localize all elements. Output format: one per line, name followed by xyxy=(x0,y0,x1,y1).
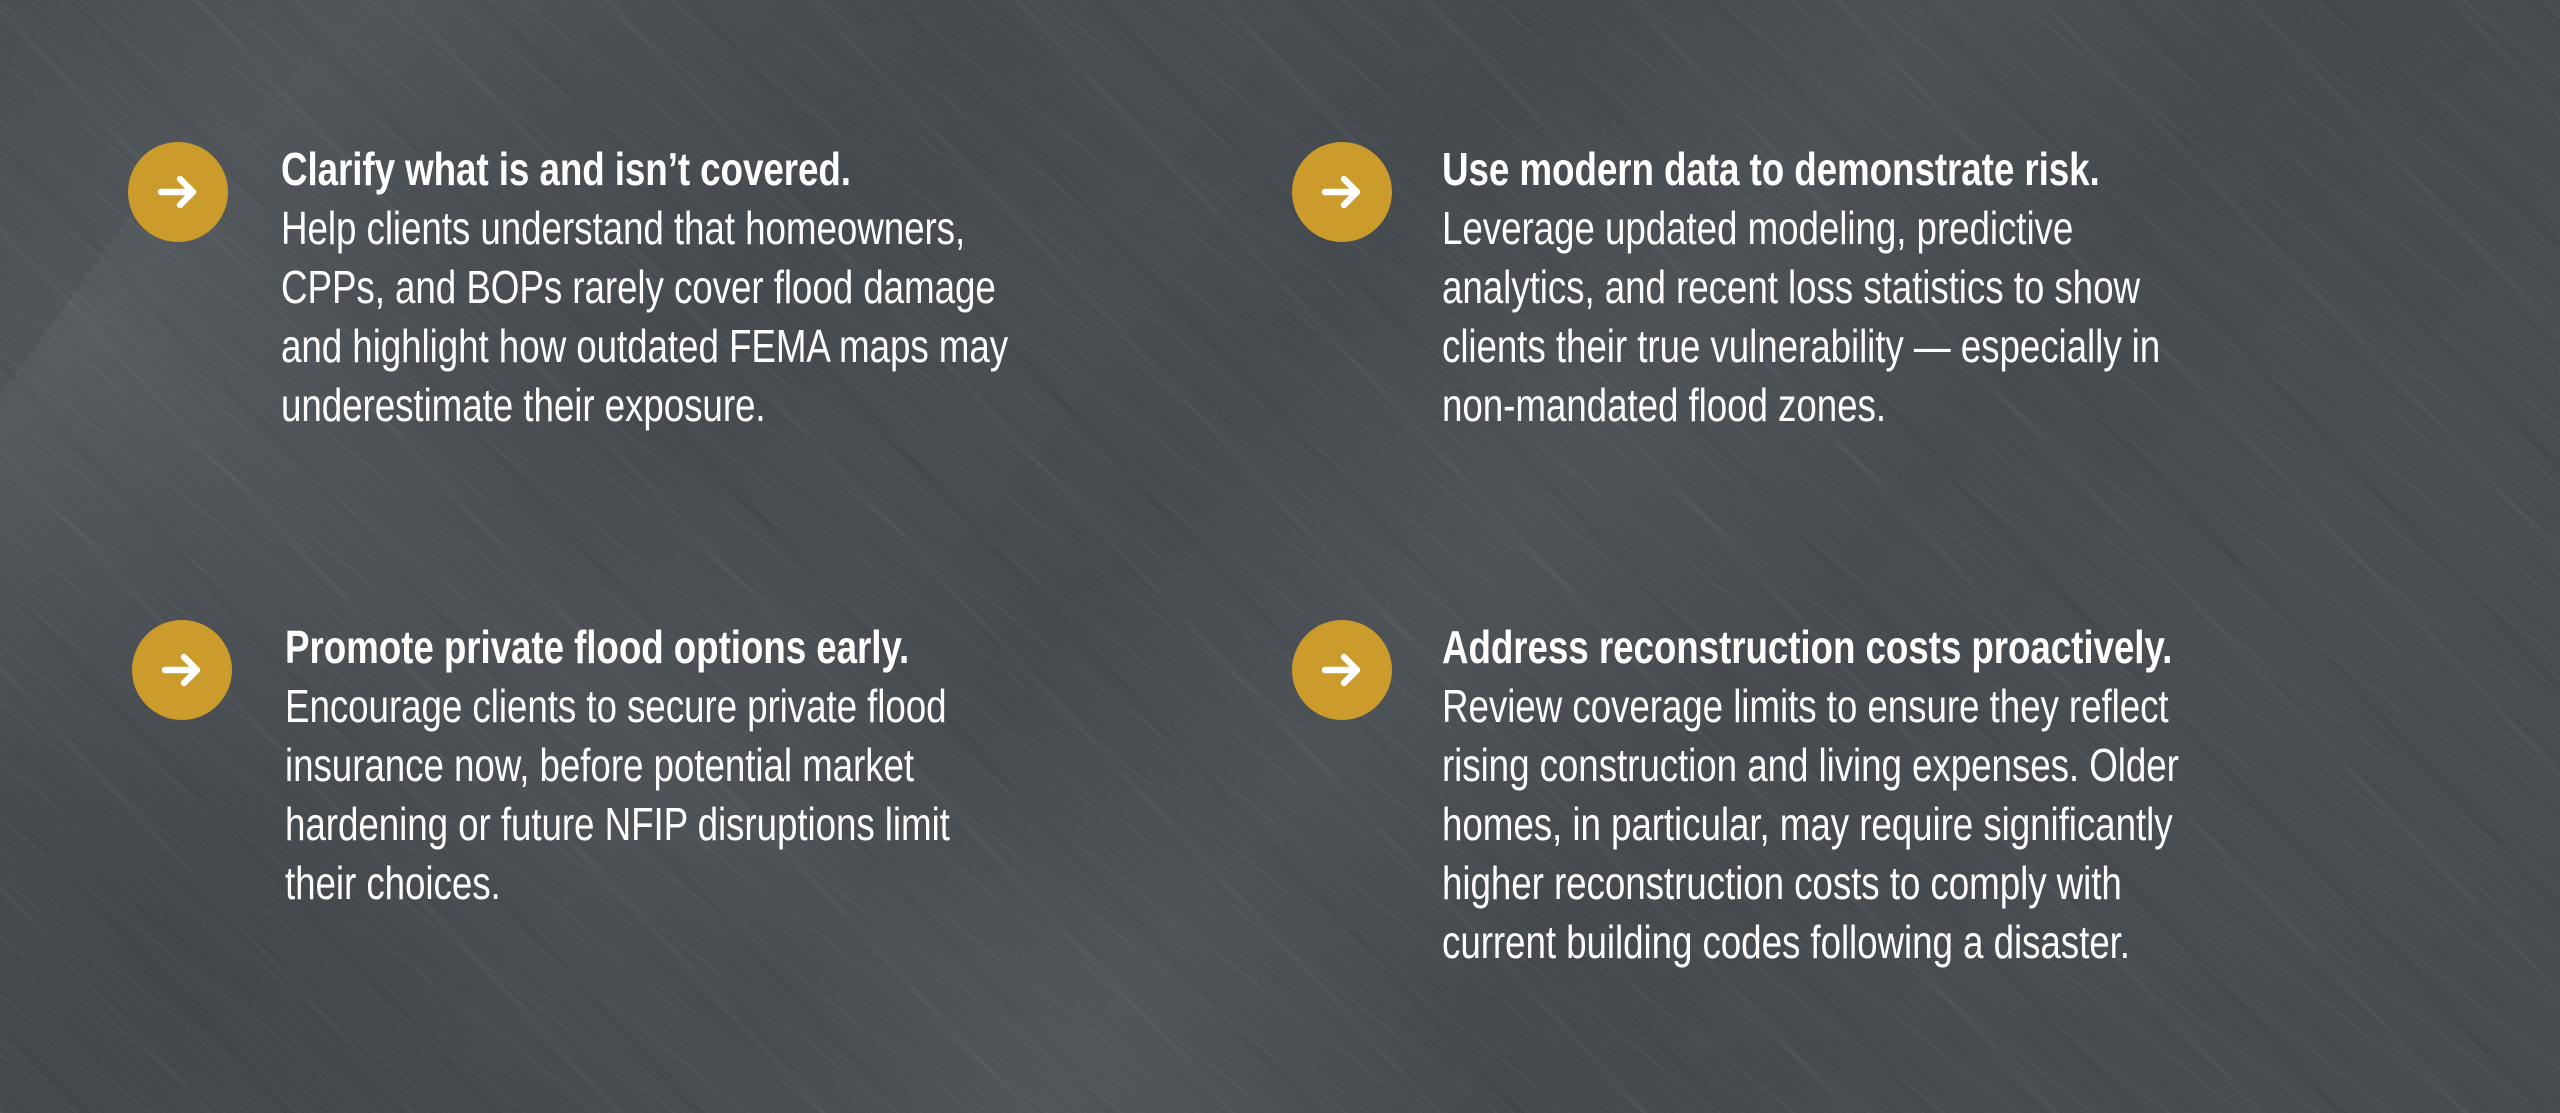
tip-card-promote-private-flood: Promote private flood options early. Enc… xyxy=(132,618,1217,913)
tip-card-reconstruction-costs: Address reconstruction costs proactively… xyxy=(1292,618,2432,972)
arrow-right-icon xyxy=(1292,620,1392,720)
tip-card-body: Address reconstruction costs proactively… xyxy=(1392,618,2432,972)
tip-card-body: Clarify what is and isn’t covered. Help … xyxy=(228,140,1213,435)
arrow-right-icon xyxy=(132,620,232,720)
tip-card-text: Leverage updated modeling, predictive an… xyxy=(1442,199,2218,435)
tip-card-heading: Use modern data to demonstrate risk. xyxy=(1442,140,2218,199)
infographic-canvas: Clarify what is and isn’t covered. Help … xyxy=(0,0,2560,1113)
tip-card-text: Review coverage limits to ensure they re… xyxy=(1442,677,2234,972)
tip-card-body: Use modern data to demonstrate risk. Lev… xyxy=(1392,140,2412,435)
tip-card-heading: Address reconstruction costs proactively… xyxy=(1442,618,2234,677)
arrow-right-icon xyxy=(128,142,228,242)
tip-card-clarify-coverage: Clarify what is and isn’t covered. Help … xyxy=(128,140,1213,435)
arrow-right-icon xyxy=(1292,142,1392,242)
tip-card-text: Help clients understand that homeowners,… xyxy=(281,199,1027,435)
tips-grid: Clarify what is and isn’t covered. Help … xyxy=(0,0,2560,1113)
tip-card-modern-data-risk: Use modern data to demonstrate risk. Lev… xyxy=(1292,140,2412,435)
tip-card-body: Promote private flood options early. Enc… xyxy=(232,618,1217,913)
tip-card-text: Encourage clients to secure private floo… xyxy=(285,677,1031,913)
tip-card-heading: Clarify what is and isn’t covered. xyxy=(281,140,1027,199)
tip-card-heading: Promote private flood options early. xyxy=(285,618,1031,677)
